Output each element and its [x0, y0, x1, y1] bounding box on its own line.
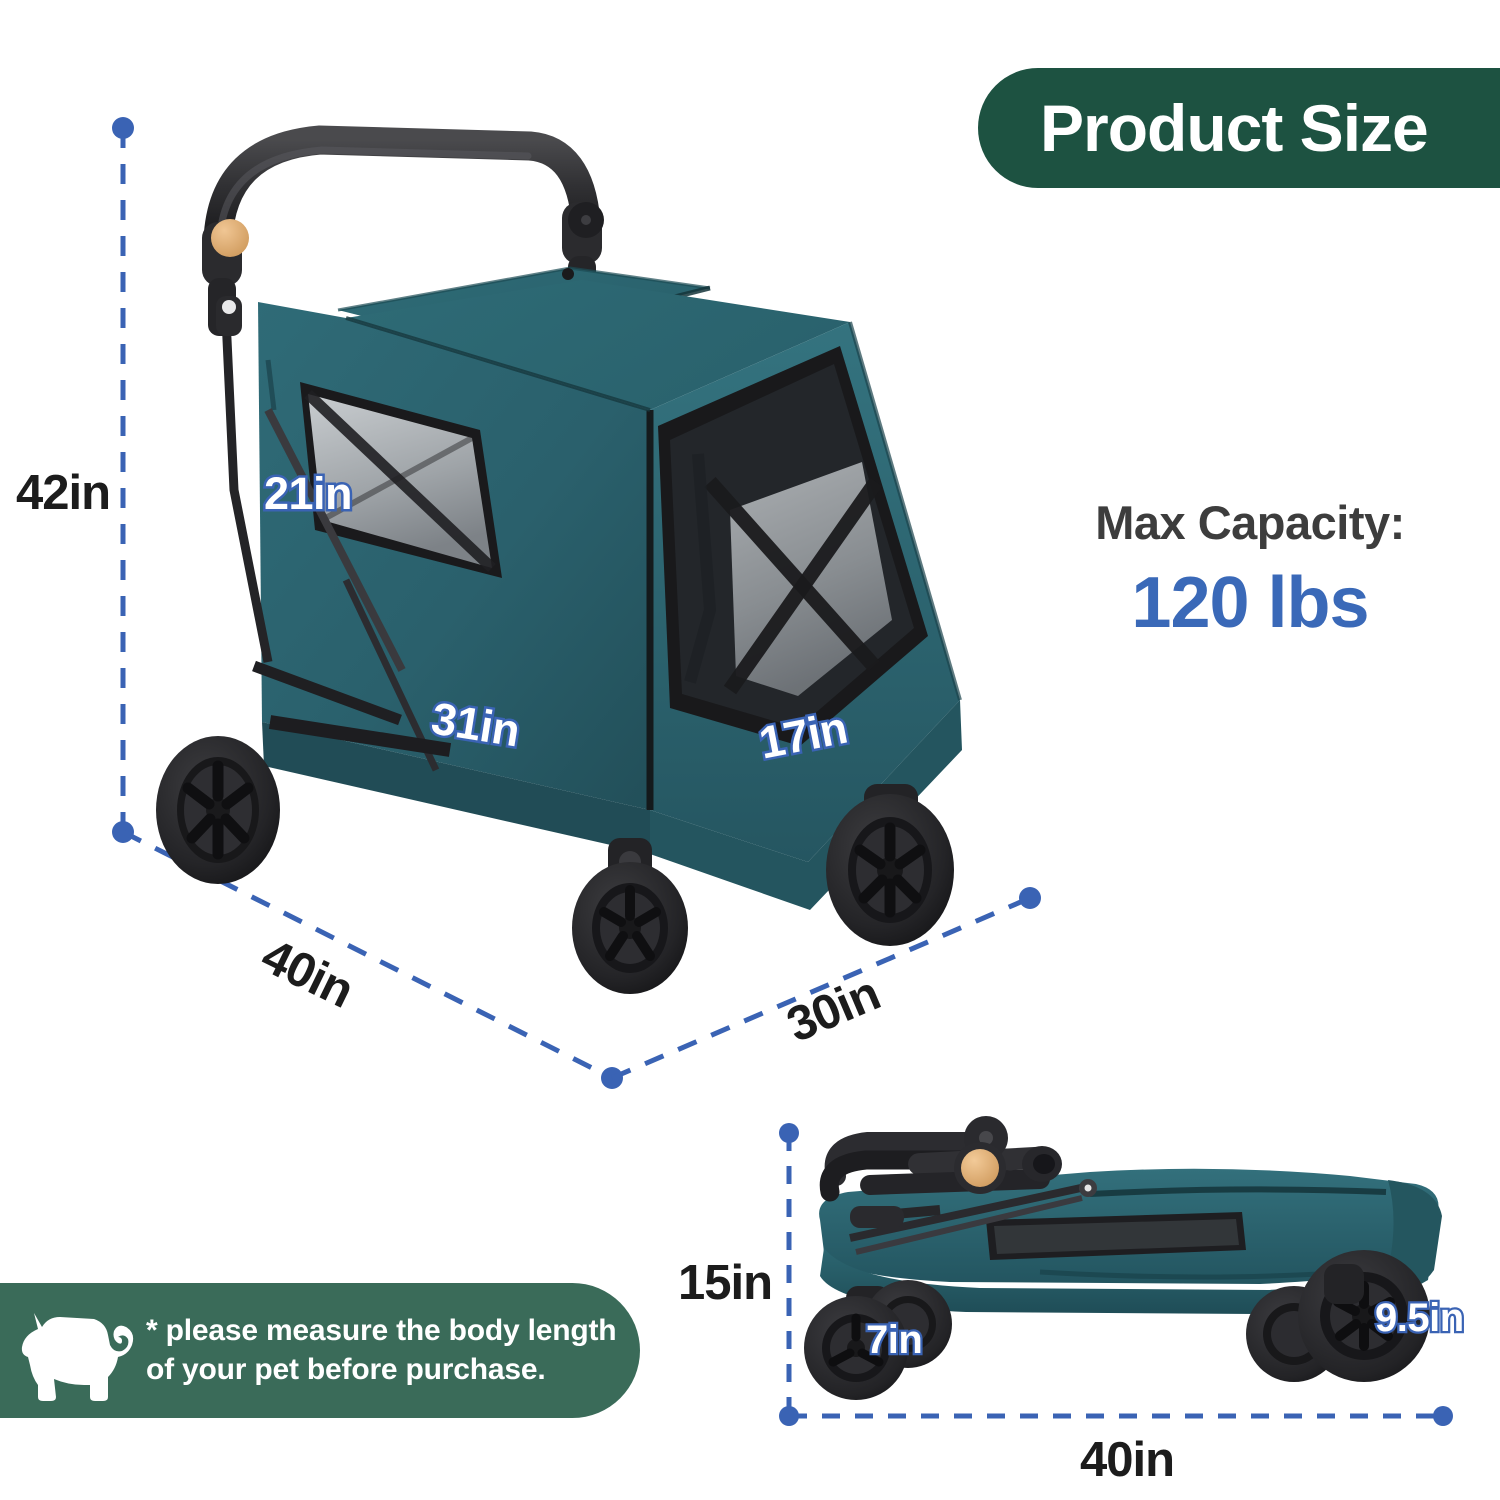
page-title: Product Size	[1040, 90, 1428, 166]
front-swivel-wheel	[572, 838, 688, 994]
dog-silhouette-icon	[12, 1299, 142, 1403]
dimension-label-folded-length: 40in	[1080, 1432, 1174, 1488]
handlebar	[218, 140, 586, 240]
folded-stroller-image	[790, 1120, 1470, 1420]
measure-notice-banner: * please measure the body length of your…	[0, 1283, 640, 1418]
guide-dot	[112, 117, 134, 139]
dimension-label-cabin-height: 21in	[264, 468, 352, 520]
measure-notice-line2: of your pet before purchase.	[146, 1351, 616, 1389]
folded-handlebar	[829, 1116, 1062, 1195]
measure-notice-text: * please measure the body length of your…	[146, 1312, 616, 1389]
dimension-label-folded-height: 15in	[678, 1255, 772, 1311]
guide-dot	[1019, 887, 1041, 909]
product-size-banner: Product Size	[978, 68, 1500, 188]
rear-wheel	[156, 736, 280, 884]
max-capacity-label: Max Capacity:	[1040, 495, 1460, 550]
measure-notice-line1: * please measure the body length	[146, 1312, 616, 1350]
dimension-label-front-wheel: 7in	[866, 1318, 922, 1363]
assembled-stroller-image	[150, 110, 1010, 1010]
dimension-label-rear-wheel: 9.5in	[1375, 1296, 1464, 1341]
max-capacity-value: 120 lbs	[1040, 562, 1460, 644]
knob-icon	[211, 219, 249, 257]
max-capacity-block: Max Capacity: 120 lbs	[1040, 495, 1460, 644]
dimension-label-height-overall: 42in	[16, 465, 110, 521]
infographic-canvas: Product Size Max Capacity: 120 lbs 42in …	[0, 0, 1500, 1500]
knob-icon	[961, 1149, 999, 1187]
